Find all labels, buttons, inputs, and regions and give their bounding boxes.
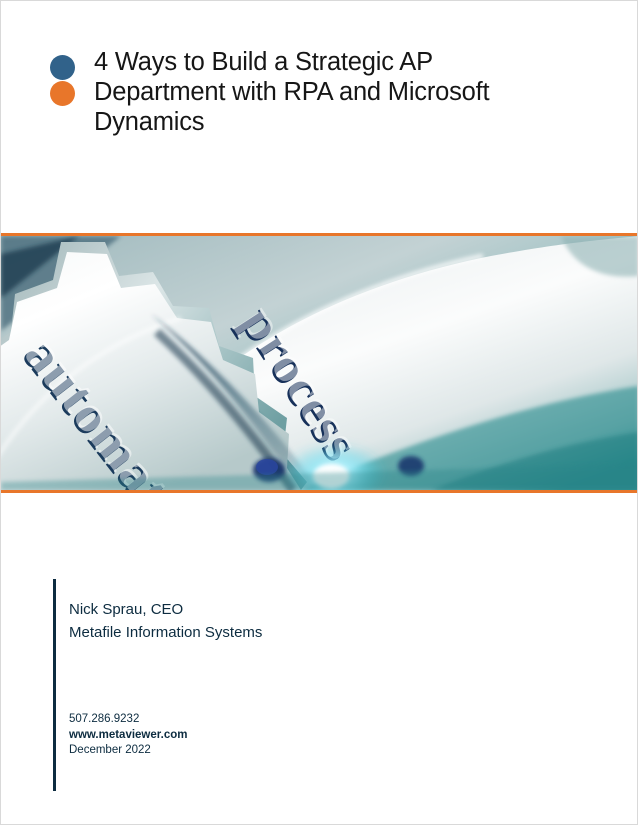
blue-dot-icon	[50, 55, 75, 80]
bullet-dot-group	[50, 55, 76, 109]
website-link[interactable]: www.metaviewer.com	[69, 728, 369, 744]
document-page: 4 Ways to Build a Strategic AP Departmen…	[0, 0, 638, 825]
page-title: 4 Ways to Build a Strategic AP Departmen…	[94, 47, 594, 137]
publication-date: December 2022	[69, 743, 369, 759]
byline-block: Nick Sprau, CEO Metafile Information Sys…	[69, 599, 489, 644]
author-name: Nick Sprau, CEO	[69, 599, 489, 622]
page-title-line-1: 4 Ways to Build a Strategic AP	[94, 47, 594, 77]
vertical-accent-rule	[53, 579, 56, 791]
hero-image-band: automation automation process process	[1, 233, 638, 493]
contact-block: 507.286.9232 www.metaviewer.com December…	[69, 712, 369, 759]
page-title-line-3: Dynamics	[94, 107, 594, 137]
phone-number: 507.286.9232	[69, 712, 369, 728]
orange-dot-icon	[50, 81, 75, 106]
company-name: Metafile Information Systems	[69, 622, 489, 645]
page-title-line-2: Department with RPA and Microsoft	[94, 77, 594, 107]
gears-automation-process-image: automation automation process process	[1, 236, 638, 490]
